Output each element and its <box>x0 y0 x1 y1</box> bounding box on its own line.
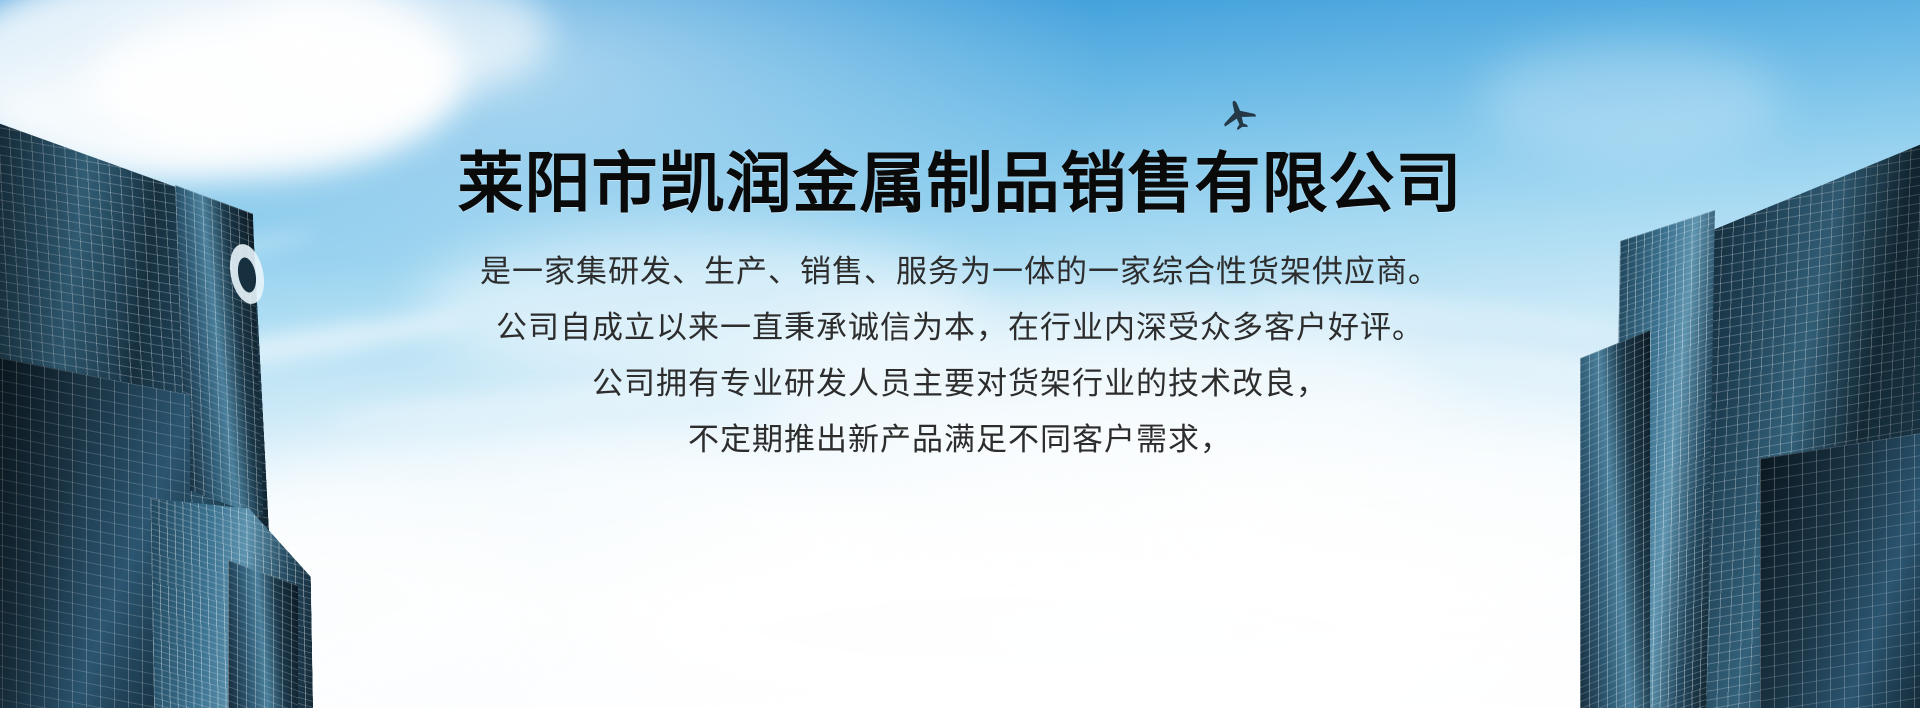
company-hero-banner: 莱阳市凯润金属制品销售有限公司 是一家集研发、生产、销售、服务为一体的一家综合性… <box>0 0 1920 708</box>
airplane-icon <box>1218 96 1262 136</box>
building-facade <box>1760 430 1920 708</box>
left-skyscrapers <box>0 0 330 708</box>
building-tower <box>228 560 298 708</box>
building-tower <box>1760 430 1920 708</box>
building-facade <box>1580 330 1650 708</box>
building-facade <box>228 560 298 708</box>
right-skyscrapers <box>1560 0 1920 708</box>
building-tower <box>1580 330 1650 708</box>
